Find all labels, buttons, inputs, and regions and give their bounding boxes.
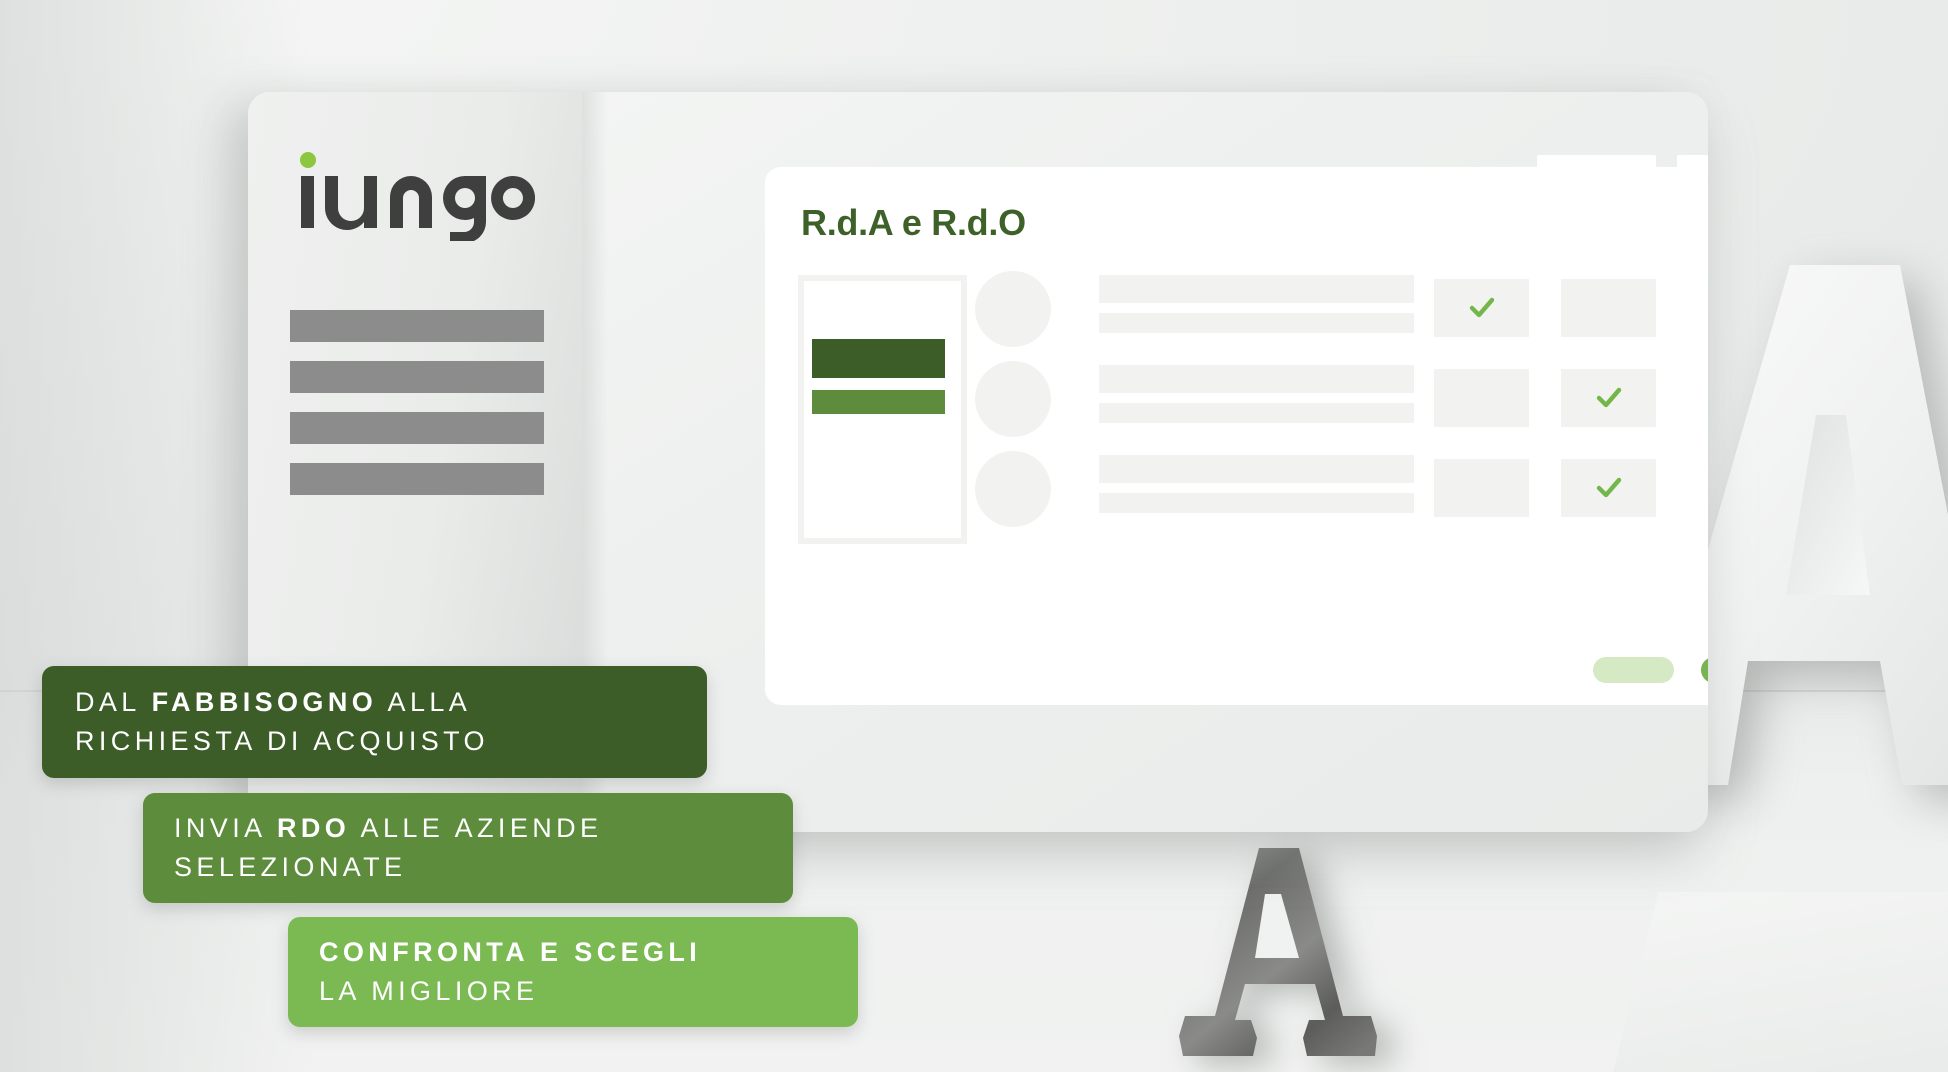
letter-a-metal-prop: [1175, 840, 1380, 1072]
preview-bar-light: [812, 390, 945, 414]
row-cell-column-one[interactable]: [1434, 459, 1529, 517]
document-preview-panel[interactable]: [798, 275, 967, 544]
banner-2-bold: RDO: [277, 813, 350, 843]
banner-line-2: LA MIGLIORE: [319, 972, 858, 1011]
primary-button[interactable]: [1701, 657, 1708, 683]
secondary-button[interactable]: [1593, 657, 1674, 683]
sidebar-item-1[interactable]: [290, 310, 544, 342]
row-secondary-placeholder: [1099, 313, 1414, 333]
preview-bar-dark: [812, 339, 945, 378]
banner-line-1: DAL FABBISOGNO ALLA: [75, 683, 707, 722]
row-cell-column-one[interactable]: [1434, 369, 1529, 427]
banner-1-post: ALLA: [377, 687, 471, 717]
avatar: [975, 361, 1051, 437]
row-primary-placeholder: [1099, 275, 1414, 303]
banner-2-pre: INVIA: [174, 813, 277, 843]
banner-line-2: SELEZIONATE: [174, 848, 793, 887]
avatar: [975, 451, 1051, 527]
banner-2-post: ALLE AZIENDE: [350, 813, 602, 843]
banner-line-1: CONFRONTA E SCEGLI: [319, 933, 858, 972]
row-cell-column-one[interactable]: [1434, 279, 1529, 337]
banner-1-bold: FABBISOGNO: [152, 687, 378, 717]
sidebar-item-3[interactable]: [290, 412, 544, 444]
row-cell-column-two[interactable]: [1561, 459, 1656, 517]
sidebar-item-4[interactable]: [290, 463, 544, 495]
banner-line-2: RICHIESTA DI ACQUISTO: [75, 722, 707, 761]
row-primary-placeholder: [1099, 455, 1414, 483]
banner-line-1: INVIA RDO ALLE AZIENDE: [174, 809, 793, 848]
check-icon: [1594, 383, 1624, 413]
iungo-logo[interactable]: [295, 146, 535, 241]
request-list: [975, 269, 1708, 539]
table-row[interactable]: [975, 269, 1708, 359]
banner-rdo: INVIA RDO ALLE AZIENDE SELEZIONATE: [143, 793, 793, 903]
table-row[interactable]: [975, 359, 1708, 449]
row-primary-placeholder: [1099, 365, 1414, 393]
row-secondary-placeholder: [1099, 403, 1414, 423]
table-row[interactable]: [975, 449, 1708, 539]
banner-3-bold: CONFRONTA E SCEGLI: [319, 937, 701, 967]
row-cell-column-two[interactable]: [1561, 279, 1656, 337]
sidebar-nav-list: [290, 310, 544, 514]
sidebar-item-2[interactable]: [290, 361, 544, 393]
scene: R.d.A e R.d.O: [0, 0, 1948, 1072]
row-secondary-placeholder: [1099, 493, 1414, 513]
banner-confronta: CONFRONTA E SCEGLI LA MIGLIORE: [288, 917, 858, 1027]
banner-fabbisogno: DAL FABBISOGNO ALLA RICHIESTA DI ACQUIST…: [42, 666, 707, 778]
page-title: R.d.A e R.d.O: [801, 202, 1026, 244]
card-action-buttons: [1593, 657, 1708, 683]
row-cell-column-two[interactable]: [1561, 369, 1656, 427]
content-card: R.d.A e R.d.O: [765, 167, 1708, 705]
check-icon: [1594, 473, 1624, 503]
avatar: [975, 271, 1051, 347]
check-icon: [1467, 293, 1497, 323]
white-slab-prop: [1608, 892, 1948, 1072]
banner-1-pre: DAL: [75, 687, 152, 717]
